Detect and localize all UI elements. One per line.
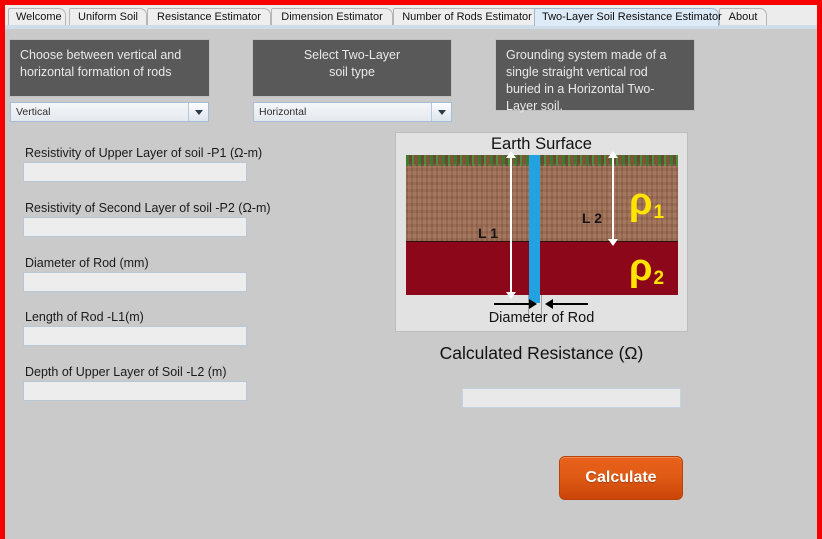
- input-depth-of-upper-layer[interactable]: [23, 381, 247, 401]
- tab-resistance-estimator[interactable]: Resistance Estimator: [147, 8, 271, 26]
- diagram-caption-diameter-of-rod: Diameter of Rod: [396, 310, 687, 326]
- grounding-rod: [529, 155, 540, 303]
- tab-dimension-estimator[interactable]: Dimension Estimator: [271, 8, 393, 26]
- tab-number-of-rods-estimator[interactable]: Number of Rods Estimator: [393, 8, 541, 26]
- soil-type-dropdown-value: Horizontal: [254, 103, 431, 121]
- soil-cross-section: L 1 L 2 ρ1 ρ2: [406, 155, 678, 295]
- label-resistivity-upper-layer: Resistivity of Upper Layer of soil -P1 (…: [25, 146, 262, 160]
- label-depth-of-upper-layer: Depth of Upper Layer of Soil -L2 (m): [25, 365, 226, 379]
- diameter-arrow-left-icon: [494, 303, 530, 305]
- formation-dropdown[interactable]: Vertical: [10, 102, 209, 122]
- soil-diagram: Earth Surface L 1 L 2 ρ1 ρ2: [395, 132, 688, 332]
- label-diameter-of-rod: Diameter of Rod (mm): [25, 256, 149, 270]
- label-resistivity-second-layer: Resistivity of Second Layer of soil -P2 …: [25, 201, 271, 215]
- input-length-of-rod[interactable]: [23, 326, 247, 346]
- diagram-title-earth-surface: Earth Surface: [396, 135, 687, 154]
- rho2-subscript: 2: [654, 268, 665, 289]
- rho2-label: ρ2: [629, 249, 664, 288]
- tab-two-layer-soil-resistance-estimator[interactable]: Two-Layer Soil Resistance Estimator: [534, 8, 719, 26]
- calculate-button[interactable]: Calculate: [559, 456, 683, 500]
- diameter-arrow-right-icon: [552, 303, 588, 305]
- label-length-of-rod: Length of Rod -L1(m): [25, 310, 144, 324]
- l1-dimension-arrow: [510, 157, 512, 293]
- tab-bar: Welcome Uniform Soil Resistance Estimato…: [5, 5, 817, 26]
- rho1-label: ρ1: [629, 183, 664, 222]
- calculated-resistance-output[interactable]: [462, 388, 681, 408]
- tab-about[interactable]: About: [719, 8, 767, 26]
- calculated-resistance-title: Calculated Resistance (Ω): [395, 343, 688, 364]
- l2-label: L 2: [582, 210, 602, 226]
- l2-dimension-arrow: [612, 157, 614, 240]
- l1-label: L 1: [478, 225, 498, 241]
- tab-uniform-soil[interactable]: Uniform Soil: [69, 8, 147, 26]
- soil-type-caption: Select Two-Layersoil type: [253, 40, 451, 96]
- input-resistivity-second-layer[interactable]: [23, 217, 247, 237]
- formation-caption: Choose between vertical and horizontal f…: [10, 40, 209, 96]
- chevron-down-icon[interactable]: [431, 103, 451, 121]
- rho1-subscript: 1: [654, 202, 665, 223]
- input-diameter-of-rod[interactable]: [23, 272, 247, 292]
- chevron-down-icon[interactable]: [188, 103, 208, 121]
- rho1-glyph: ρ: [629, 181, 653, 223]
- soil-type-dropdown[interactable]: Horizontal: [253, 102, 452, 122]
- tab-content-panel: Choose between vertical and horizontal f…: [5, 31, 817, 539]
- tab-welcome[interactable]: Welcome: [8, 8, 66, 26]
- formation-dropdown-value: Vertical: [11, 103, 188, 121]
- application-window: Welcome Uniform Soil Resistance Estimato…: [0, 0, 822, 539]
- input-resistivity-upper-layer[interactable]: [23, 162, 247, 182]
- system-description-caption: Grounding system made of a single straig…: [496, 40, 694, 110]
- rho2-glyph: ρ: [629, 247, 653, 289]
